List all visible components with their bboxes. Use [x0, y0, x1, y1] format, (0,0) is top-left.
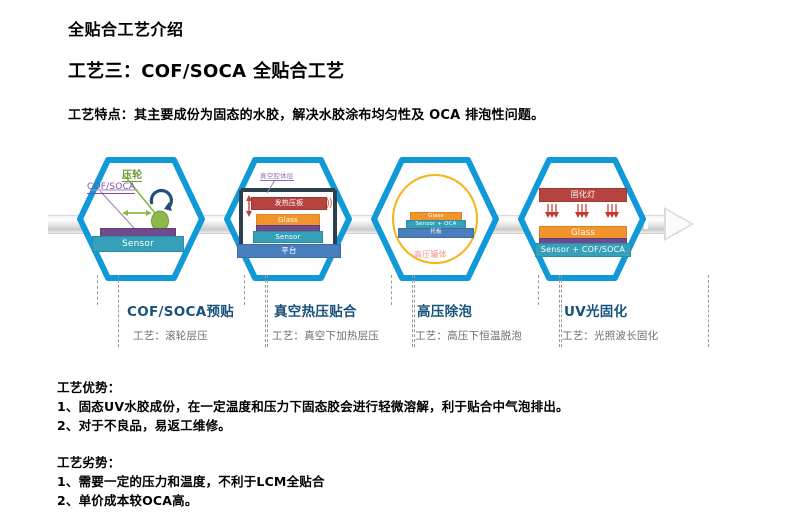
layer-tray: 托板: [398, 228, 474, 238]
step-desc-3: 工艺：高压下恒温脱泡: [415, 328, 522, 343]
callout-vacuum-chamber: 真空腔体层: [260, 170, 294, 181]
step-desc-4: 工艺：光照波长固化: [562, 328, 658, 343]
layer-curing-lamp: 固化灯: [539, 188, 627, 202]
disadvantages-item-1: 1、需要一定的压力和温度，不利于LCM全贴合: [57, 472, 325, 491]
layer-sensor: Sensor: [92, 236, 184, 252]
process-step-labels: COF/SOCA预贴 工艺：滚轮层压 真空热压贴合 工艺：真空下加热层压 高压除…: [0, 275, 795, 360]
advantages-item-2: 2、对于不良品，易返工维修。: [57, 416, 569, 435]
section-subtitle: 工艺三：COF/SOCA 全贴合工艺: [68, 57, 344, 83]
layer-platform: 平台: [237, 244, 341, 258]
callout-roller: 压轮: [122, 166, 142, 182]
advantages-item-1: 1、固态UV水胶成份，在一定温度和压力下固态胶会进行轻微溶解，利于贴合中气泡排出…: [57, 397, 569, 416]
process-step-hexagon-3[interactable]: Glass Sensor + OCA 托板 高压罐体: [370, 156, 500, 282]
disadvantages-item-2: 2、单价成本较OCA高。: [57, 491, 325, 510]
process-step-hexagon-1[interactable]: COF/SOCA 压轮 Sensor: [76, 156, 206, 282]
step-desc-1: 工艺：滚轮层压: [133, 328, 208, 343]
flow-arrow-inner-icon: [666, 210, 691, 238]
process-step-hexagon-4[interactable]: 固化灯 Glass Sensor + COF/SOCA: [517, 156, 647, 282]
step-tick: [97, 275, 116, 305]
callout-pressure-vessel: 高压罐体: [414, 249, 447, 260]
disadvantages-block: 工艺劣势： 1、需要一定的压力和温度，不利于LCM全贴合 2、单价成本较OCA高…: [57, 453, 325, 510]
callout-cof-soca: COF/SOCA: [87, 182, 135, 194]
layer-sensor-cof-soca: Sensor + COF/SOCA: [535, 243, 631, 257]
advantages-block: 工艺优势： 1、固态UV水胶成份，在一定温度和压力下固态胶会进行轻微溶解，利于贴…: [57, 378, 569, 435]
layer-heating-plate: 发热压板: [251, 197, 327, 210]
disadvantages-title: 工艺劣势：: [57, 453, 325, 472]
process-step-hexagon-2[interactable]: 真空腔体层 发热压板 Glass Sensor 平台: [223, 156, 353, 282]
step-name-4: UV光固化: [564, 300, 627, 320]
step-name-3: 高压除泡: [417, 300, 472, 320]
process-feature-text: 工艺特点：其主要成份为固态的水胶，解决水胶涂布均匀性及 OCA 排泡性问题。: [68, 104, 544, 123]
step-desc-2: 工艺：真空下加热层压: [272, 328, 379, 343]
page-title: 全贴合工艺介绍: [68, 16, 184, 40]
advantages-title: 工艺优势：: [57, 378, 569, 397]
uv-rays-icon: [517, 156, 647, 282]
layer-sensor: Sensor: [253, 231, 323, 243]
step-name-1: COF/SOCA预贴: [127, 300, 234, 320]
step-name-2: 真空热压贴合: [274, 300, 357, 320]
